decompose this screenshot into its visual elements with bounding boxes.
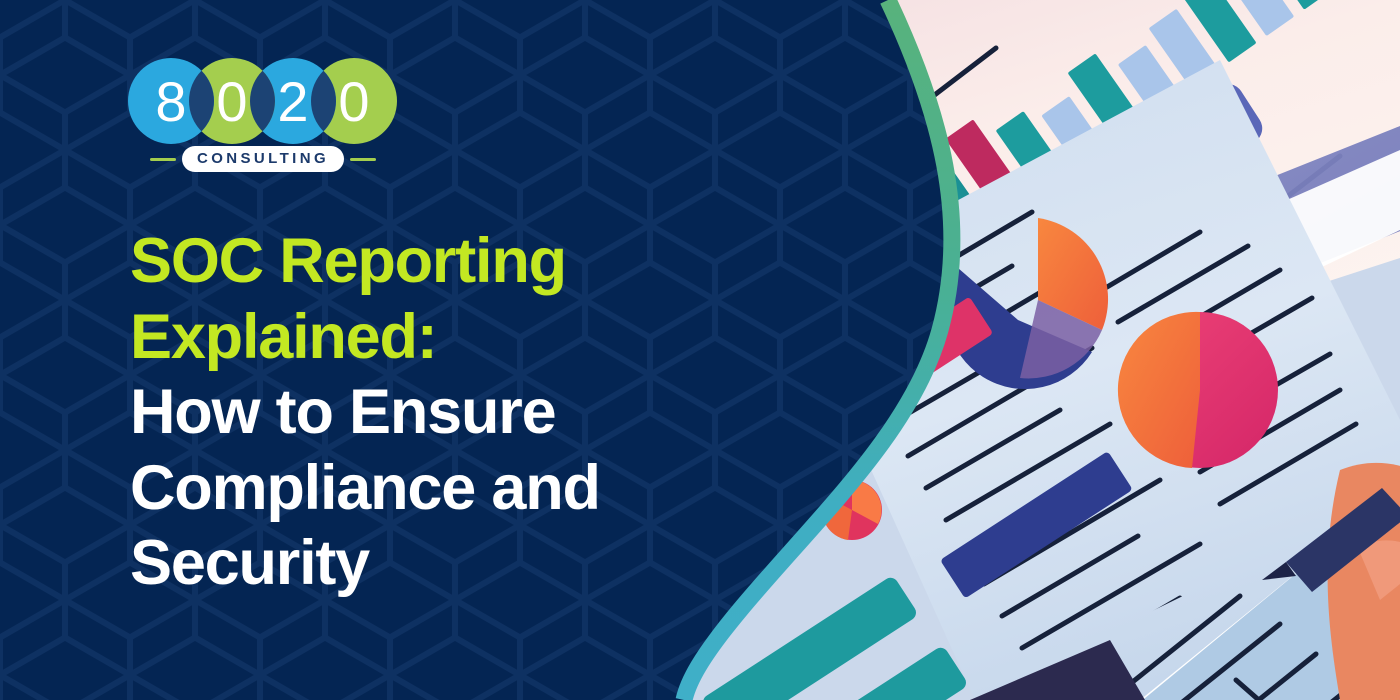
hero-banner: 8 0 2 0 CONSULTING SOC Reporting Explain… [0, 0, 1400, 700]
headline-line-2: Explained: [130, 300, 690, 376]
logo-wordmark: CONSULTING [182, 146, 344, 172]
logo-circles: 8 0 2 0 [128, 58, 398, 144]
logo-wordmark-row: CONSULTING [128, 142, 398, 176]
headline-line-3: How to Ensure [130, 375, 690, 451]
logo-digits: 8 0 2 0 [128, 58, 398, 144]
headline-line-4: Compliance and [130, 451, 690, 527]
brand-logo[interactable]: 8 0 2 0 CONSULTING [128, 58, 398, 180]
logo-digit-4: 0 [311, 58, 397, 144]
page-title: SOC Reporting Explained: How to Ensure C… [130, 224, 690, 602]
headline-line-1: SOC Reporting [130, 224, 690, 300]
pie-chart-orange-pink [1118, 312, 1278, 468]
dash-left-icon [150, 158, 176, 161]
illustration-audit-documents [640, 0, 1400, 700]
dash-right-icon [350, 158, 376, 161]
headline-line-5: Security [130, 526, 690, 602]
